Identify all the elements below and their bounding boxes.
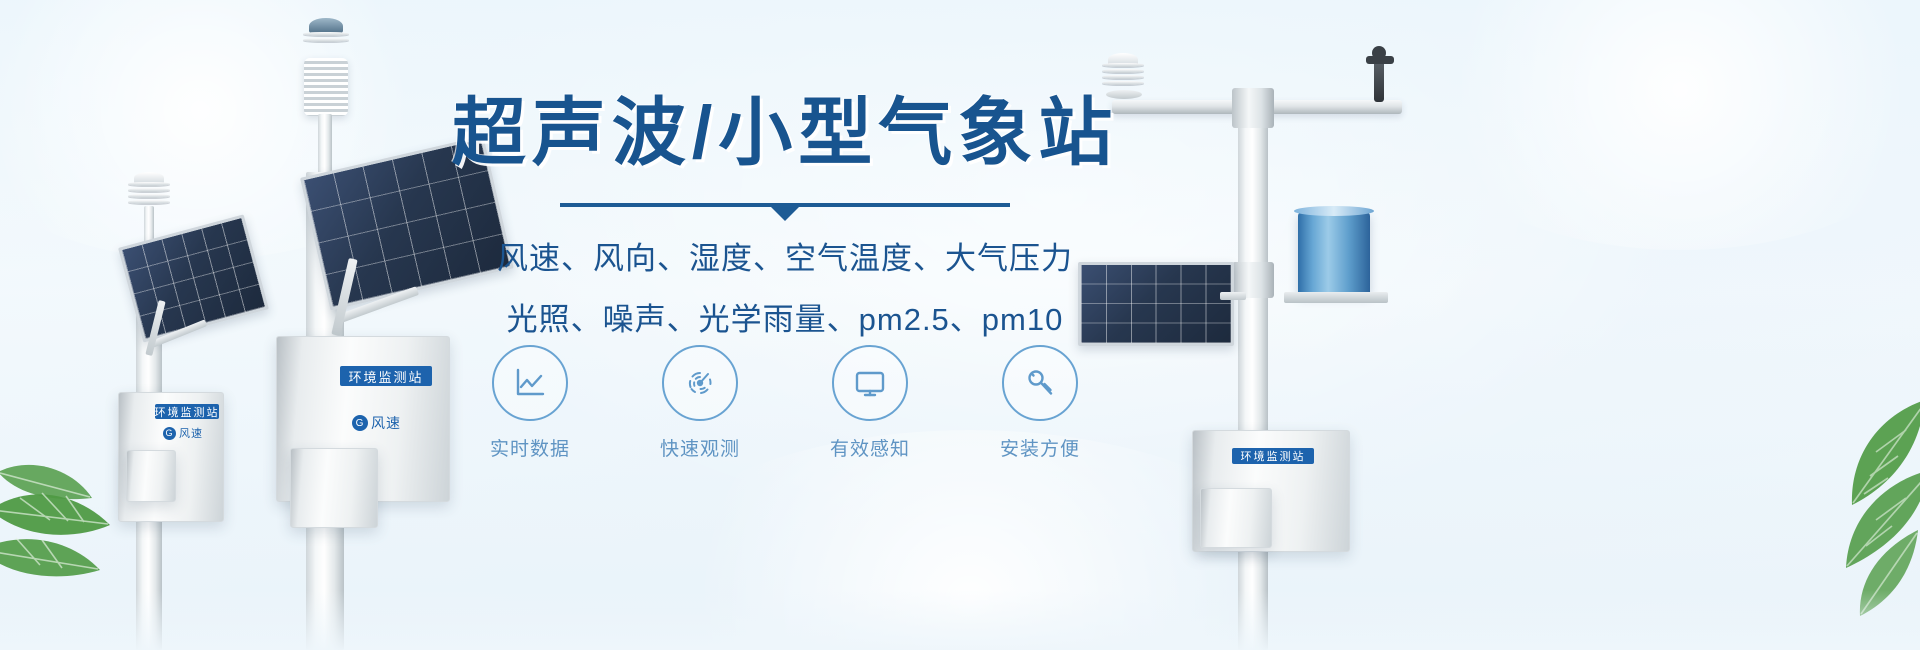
subtitle-line-1: 风速、风向、湿度、空气温度、大气压力 (440, 233, 1130, 284)
right-station-plate-label: 环境监测站 (1241, 448, 1306, 464)
palm-leaf-right-icon (1700, 360, 1920, 620)
feature-label: 安装方便 (980, 434, 1100, 461)
monitor-screen-icon (832, 345, 908, 421)
radiation-shield-center (304, 58, 348, 116)
wrench-icon (1002, 345, 1078, 421)
center-station-lower-box (290, 448, 378, 528)
center-station-brand-name: 风速 (371, 413, 401, 433)
brand-logo-icon: G (352, 415, 368, 431)
feature-list: 实时数据 快速观测 (440, 345, 1130, 461)
main-pole-right (1238, 92, 1268, 650)
ultrasonic-sensor-head-right (1102, 62, 1144, 90)
wind-vane-cup (1372, 46, 1386, 60)
feature-label: 有效感知 (810, 434, 930, 461)
wind-vane-right (1374, 60, 1384, 102)
right-station-lower-box (1200, 488, 1272, 548)
banner-text-block: 超声波/小型气象站 风速、风向、湿度、空气温度、大气压力 光照、噪声、光学雨量、… (440, 90, 1130, 345)
center-station-plate: 环境监测站 (340, 366, 432, 386)
ground-fade (0, 590, 1920, 650)
feature-label: 快速观测 (640, 434, 760, 461)
ultrasonic-sensor-head-center (303, 30, 349, 44)
pole-collar-right (1232, 88, 1274, 128)
product-banner: 环境监测站 G 风速 环境监测站 G 风速 (0, 0, 1920, 650)
feature-label: 实时数据 (470, 434, 590, 461)
line-chart-icon (492, 345, 568, 421)
sensor-mast-center (318, 114, 332, 176)
palm-leaf-left-icon (0, 390, 160, 590)
subtitle-line-2: 光照、噪声、光学雨量、pm2.5、pm10 (440, 294, 1130, 345)
title-divider (560, 203, 1010, 207)
radar-signal-icon (662, 345, 738, 421)
feature-item-easy-installation[interactable]: 安装方便 (980, 345, 1100, 461)
chevron-down-triangle-icon (771, 207, 799, 221)
rain-gauge-right (1298, 212, 1370, 294)
rain-gauge-base-right (1284, 292, 1388, 303)
center-station-plate-label: 环境监测站 (348, 367, 423, 386)
solar-panel-bracket-right (1220, 292, 1246, 300)
rain-gauge-rim (1294, 206, 1374, 216)
background-cloud (1400, 0, 1920, 250)
feature-item-effective-sensing[interactable]: 有效感知 (810, 345, 930, 461)
center-station-brand: G 风速 (352, 413, 401, 433)
right-station-plate: 环境监测站 (1232, 448, 1314, 464)
page-title: 超声波/小型气象站 (440, 90, 1130, 175)
feature-item-realtime-data[interactable]: 实时数据 (470, 345, 590, 461)
feature-item-fast-observation[interactable]: 快速观测 (640, 345, 760, 461)
